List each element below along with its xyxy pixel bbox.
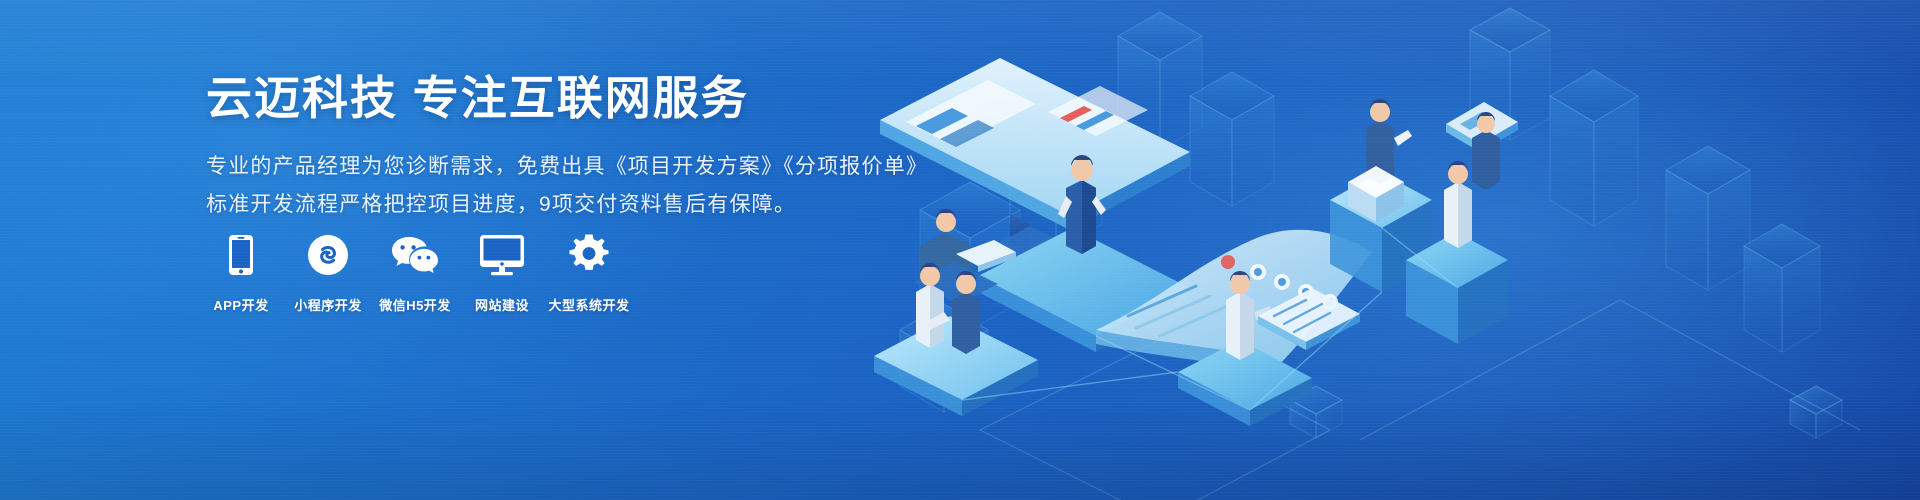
wechat-icon xyxy=(391,232,439,278)
service-item-app[interactable]: APP开发 xyxy=(206,232,276,314)
service-list: APP开发 小程序开发 xyxy=(206,232,624,314)
person-on-pedestal-lower xyxy=(1444,161,1472,248)
hero-subtitle: 专业的产品经理为您诊断需求，免费出具《项目开发方案》《分项报价单》 标准开发流程… xyxy=(206,148,966,224)
service-label: APP开发 xyxy=(213,295,268,314)
gear-icon xyxy=(568,232,610,278)
mini-program-icon xyxy=(307,232,349,278)
service-item-website[interactable]: 网站建设 xyxy=(467,232,537,314)
hero-copy: 云迈科技 专注互联网服务 专业的产品经理为您诊断需求，免费出具《项目开发方案》《… xyxy=(206,74,966,224)
mobile-phone-icon xyxy=(228,232,254,278)
service-item-mini-program[interactable]: 小程序开发 xyxy=(293,232,363,314)
service-label: 小程序开发 xyxy=(294,295,362,314)
service-label: 网站建设 xyxy=(475,295,529,314)
service-label: 微信H5开发 xyxy=(379,295,451,314)
monitor-icon xyxy=(479,232,525,278)
person-bottom-left-a xyxy=(916,263,944,348)
hero-banner: 云迈科技 专注互联网服务 专业的产品经理为您诊断需求，免费出具《项目开发方案》《… xyxy=(0,0,1920,500)
service-label: 大型系统开发 xyxy=(549,295,630,314)
subtitle-line-2: 标准开发流程严格把控项目进度，9项交付资料售后有保障。 xyxy=(206,186,966,224)
illustration-isometric-tech xyxy=(860,0,1920,500)
service-item-large-system[interactable]: 大型系统开发 xyxy=(554,232,624,314)
subtitle-line-1: 专业的产品经理为您诊断需求，免费出具《项目开发方案》《分项报价单》 xyxy=(206,148,966,186)
service-item-wechat-h5[interactable]: 微信H5开发 xyxy=(380,232,450,314)
page-title: 云迈科技 专注互联网服务 xyxy=(206,74,966,124)
